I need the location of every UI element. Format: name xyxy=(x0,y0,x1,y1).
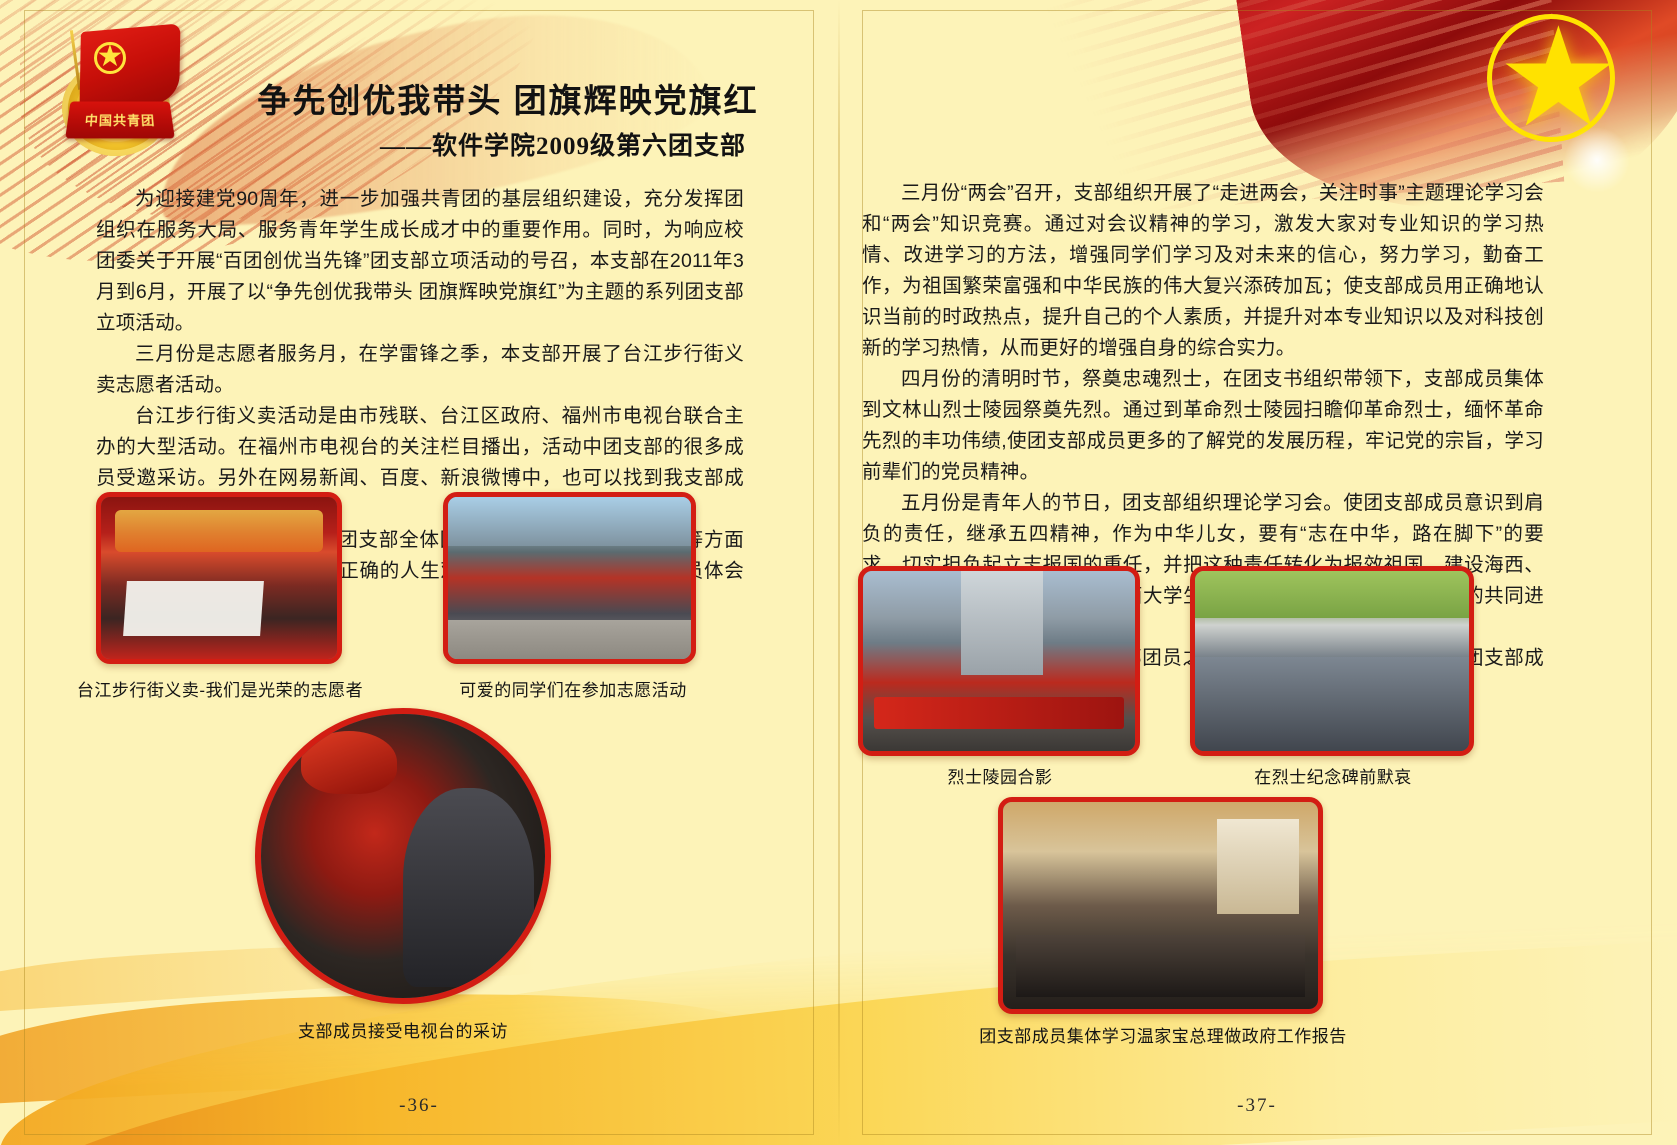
caption-study-government-report: 团支部成员集体学习温家宝总理做政府工作报告 xyxy=(968,1022,1358,1047)
page-title: 争先创优我带头 团旗辉映党旗红 xyxy=(248,74,768,122)
paragraph: 四月份的清明时节，祭奠忠魂烈士，在团支书组织带领下，支部成员集体到文林山烈士陵园… xyxy=(862,364,1544,488)
photo-students-volunteering xyxy=(443,492,696,664)
caption-students-volunteering: 可爱的同学们在参加志愿活动 xyxy=(430,676,716,701)
photo-study-government-report xyxy=(998,797,1323,1014)
paragraph: 三月份“两会”召开，支部组织开展了“走进两会，关注时事”主题理论学习会和“两会”… xyxy=(862,178,1544,364)
caption-silent-tribute-monument: 在烈士纪念碑前默哀 xyxy=(1194,763,1472,788)
caption-taijiang-charity-sale: 台江步行街义卖-我们是光荣的志愿者 xyxy=(60,676,380,701)
caption-tv-interview: 支部成员接受电视台的采访 xyxy=(233,1017,573,1042)
masthead: ★ 中国共青团 争先创优我带头 团旗辉映党旗红 ——软件学院2009级第六团支部 xyxy=(48,18,788,158)
caption-martyrs-cemetery-group: 烈士陵园合影 xyxy=(868,763,1132,788)
page-number-left: -36- xyxy=(0,1095,838,1117)
left-page: ★ 中国共青团 争先创优我带头 团旗辉映党旗红 ——软件学院2009级第六团支部… xyxy=(0,0,838,1145)
page-number-right: -37- xyxy=(838,1095,1676,1117)
page-subtitle: ——软件学院2009级第六团支部 xyxy=(248,126,768,162)
photo-martyrs-cemetery-group xyxy=(858,566,1140,756)
magazine-spread: ★ ★ 中国共青团 争先创优我带头 团旗辉映党旗红 ——软件学院2009级第六团… xyxy=(0,0,1677,1145)
paragraph: 为迎接建党90周年，进一步加强共青团的基层组织建设，充分发挥团组织在服务大局、服… xyxy=(96,184,744,339)
paragraph: 三月份是志愿者服务月，在学雷锋之季，本支部开展了台江步行街义卖志愿者活动。 xyxy=(96,339,744,401)
communist-youth-league-emblem-icon: ★ 中国共青团 xyxy=(56,26,188,158)
emblem-banner-text: 中国共青团 xyxy=(84,110,156,128)
photo-silent-tribute-monument xyxy=(1190,566,1474,756)
photo-taijiang-charity-sale xyxy=(96,492,342,664)
right-page: 三月份“两会”召开，支部组织开展了“走进两会，关注时事”主题理论学习会和“两会”… xyxy=(838,0,1676,1145)
photo-tv-interview xyxy=(255,708,551,1004)
